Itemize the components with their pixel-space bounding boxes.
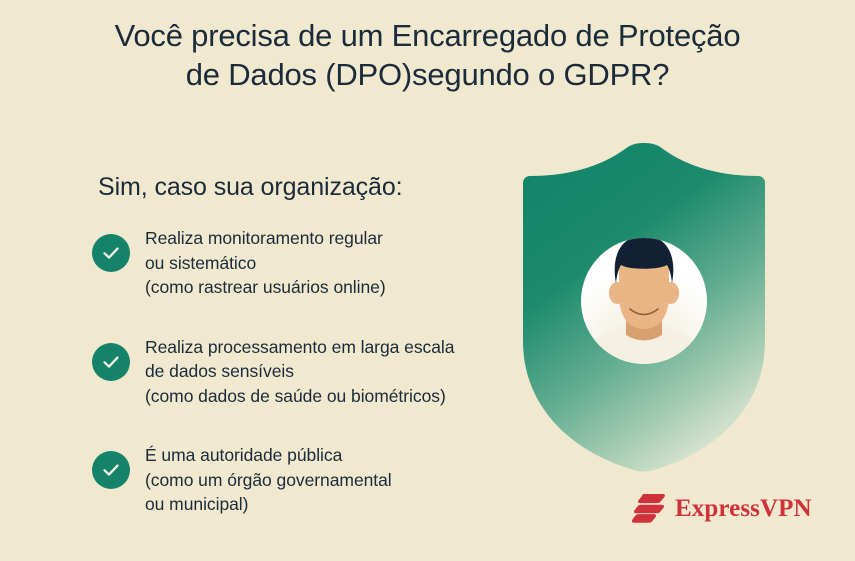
list-item: É uma autoridade pública (como um órgão … — [92, 443, 532, 517]
list-item: Realiza processamento em larga escala de… — [92, 335, 532, 409]
check-icon — [92, 451, 130, 489]
page-title: Você precisa de um Encarregado de Proteç… — [0, 16, 855, 94]
list-item-line-3: (como dados de saúde ou biométricos) — [145, 384, 532, 409]
list-item-line-3: (como rastrear usuários online) — [145, 275, 532, 300]
list-item-line-2: ou sistemático — [145, 251, 532, 276]
list-item-text: Realiza monitoramento regular ou sistemá… — [145, 226, 532, 300]
list-item-line-1: Realiza processamento em larga escala — [145, 335, 532, 360]
list-item-line-3: ou municipal) — [145, 492, 532, 517]
list-item-line-1: Realiza monitoramento regular — [145, 226, 532, 251]
list-item-line-2: de dados sensíveis — [145, 359, 532, 384]
list-item-line-1: É uma autoridade pública — [145, 443, 532, 468]
expressvpn-logo: ExpressVPN — [632, 492, 812, 524]
title-line-1: Você precisa de um Encarregado de Proteç… — [0, 16, 855, 55]
infographic-canvas: Você precisa de um Encarregado de Proteç… — [0, 0, 855, 561]
list-item-line-2: (como um órgão governamental — [145, 468, 532, 493]
shield-with-person-icon — [513, 143, 775, 473]
criteria-list: Realiza monitoramento regular ou sistemá… — [92, 226, 532, 517]
list-item: Realiza monitoramento regular ou sistemá… — [92, 226, 532, 300]
title-line-2: de Dados (DPO)segundo o GDPR? — [0, 55, 855, 94]
list-item-text: É uma autoridade pública (como um órgão … — [145, 443, 532, 517]
check-icon — [92, 234, 130, 272]
expressvpn-e-icon — [632, 492, 666, 524]
check-icon — [92, 343, 130, 381]
subtitle: Sim, caso sua organização: — [98, 172, 403, 202]
expressvpn-wordmark: ExpressVPN — [675, 496, 812, 521]
list-item-text: Realiza processamento em larga escala de… — [145, 335, 532, 409]
